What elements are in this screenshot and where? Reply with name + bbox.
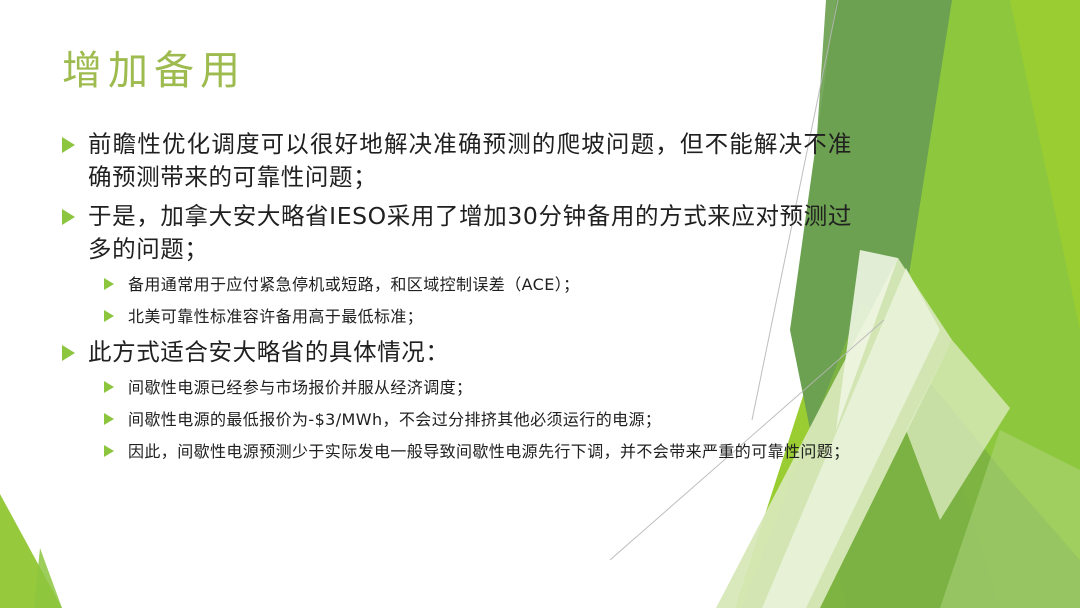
- bullet-item: 于是，加拿大安大略省IESO采用了增加30分钟备用的方式来应对预测过多的问题；: [62, 200, 852, 266]
- sub-bullet-item: 间歇性电源已经参与市场报价并服从经济调度；: [62, 375, 852, 401]
- triangle-right-icon: [104, 304, 128, 322]
- content-body: 前瞻性优化调度可以很好地解决准确预测的爬坡问题，但不能解决不准确预测带来的可靠性…: [62, 128, 852, 471]
- bullet-text: 于是，加拿大安大略省IESO采用了增加30分钟备用的方式来应对预测过多的问题；: [88, 200, 852, 266]
- bullet-item: 前瞻性优化调度可以很好地解决准确预测的爬坡问题，但不能解决不准确预测带来的可靠性…: [62, 128, 852, 194]
- bg-shape-bottom-left-wedge-tip: [34, 548, 62, 608]
- sub-bullet-item: 北美可靠性标准容许备用高于最低标准；: [62, 304, 852, 330]
- sub-bullet-item: 备用通常用于应付紧急停机或短路，和区域控制误差（ACE）；: [62, 272, 852, 298]
- triangle-right-icon: [62, 200, 88, 225]
- sub-bullet-item: 间歇性电源的最低报价为-$3/MWh，不会过分排挤其他必须运行的电源；: [62, 407, 852, 433]
- bullet-text: 此方式适合安大略省的具体情况：: [88, 336, 852, 369]
- triangle-right-icon: [62, 128, 88, 153]
- sub-bullet-text: 间歇性电源已经参与市场报价并服从经济调度；: [128, 375, 852, 401]
- triangle-right-icon: [104, 439, 128, 457]
- sub-bullet-text: 间歇性电源的最低报价为-$3/MWh，不会过分排挤其他必须运行的电源；: [128, 407, 852, 433]
- sub-bullet-item: 因此，间歇性电源预测少于实际发电一般导致间歇性电源先行下调，并不会带来严重的可靠…: [62, 439, 852, 465]
- slide-canvas: 增加备用 前瞻性优化调度可以很好地解决准确预测的爬坡问题，但不能解决不准确预测带…: [0, 0, 1080, 608]
- triangle-right-icon: [62, 336, 88, 361]
- sub-bullet-text: 北美可靠性标准容许备用高于最低标准；: [128, 304, 852, 330]
- triangle-right-icon: [104, 407, 128, 425]
- triangle-right-icon: [104, 375, 128, 393]
- bg-shape-bottom-left-wedge: [0, 494, 62, 608]
- bg-shape-pale-overlay-right: [906, 340, 1010, 520]
- bg-shape-light-wash: [940, 430, 1080, 608]
- sub-bullet-text: 备用通常用于应付紧急停机或短路，和区域控制误差（ACE）；: [128, 272, 852, 298]
- title-container: 增加备用: [62, 48, 762, 94]
- bullet-item: 此方式适合安大略省的具体情况：: [62, 336, 852, 369]
- sub-bullet-text: 因此，间歇性电源预测少于实际发电一般导致间歇性电源先行下调，并不会带来严重的可靠…: [128, 439, 852, 465]
- triangle-right-icon: [104, 272, 128, 290]
- bullet-text: 前瞻性优化调度可以很好地解决准确预测的爬坡问题，但不能解决不准确预测带来的可靠性…: [88, 128, 852, 194]
- page-title: 增加备用: [62, 48, 762, 94]
